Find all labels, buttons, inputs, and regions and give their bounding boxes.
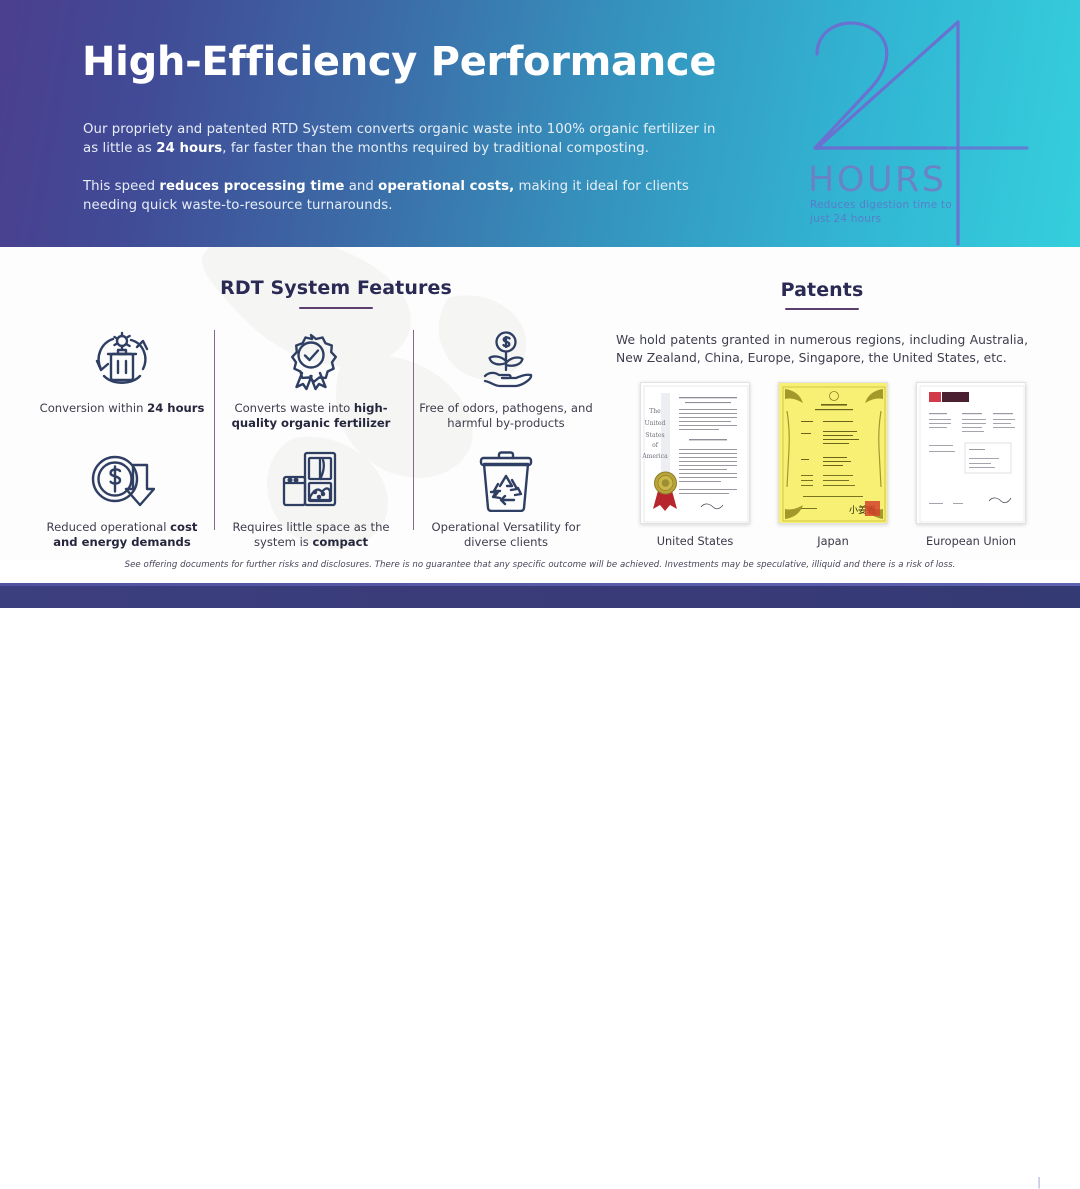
feature-caption: Operational Versatility for diverse clie…	[418, 520, 594, 551]
patent-caption: United States	[640, 535, 750, 548]
quality-badge-check-icon	[223, 325, 399, 393]
hero-paragraph-1: Our propriety and patented RTD System co…	[83, 120, 733, 159]
disclaimer-text: See offering documents for further risks…	[0, 560, 1080, 570]
feature-item-conversion-time: Conversion within 24 hours	[34, 325, 210, 416]
feature-item-quality-fertilizer: Converts waste into high-quality organic…	[223, 325, 399, 432]
feature-item-versatility: Operational Versatility for diverse clie…	[418, 444, 594, 551]
feature-caption-text: Conversion within	[40, 401, 148, 415]
page-number: 13	[1048, 1176, 1062, 1189]
feature-item-reduced-cost: Reduced operational cost and energy dema…	[34, 444, 210, 551]
feature-caption: Reduced operational cost and energy dema…	[34, 520, 210, 551]
patent-image-jp[interactable]: 小姜義	[778, 382, 888, 524]
patent-caption: European Union	[916, 535, 1026, 548]
hero-p2-emphasis-2: operational costs,	[378, 179, 514, 194]
hours-label: HOURS	[808, 160, 947, 200]
hero-paragraph-2: This speed reduces processing time and o…	[83, 177, 733, 216]
feature-caption: Free of odors, pathogens, and harmful by…	[418, 401, 594, 432]
feature-caption-text: Free of odors, pathogens, and harmful by…	[419, 401, 592, 430]
footer-brand-group: SunHo | 13	[988, 1175, 1062, 1189]
patent-document-european-union[interactable]: European Union	[916, 382, 1026, 548]
recycling-trash-icon	[418, 444, 594, 512]
patents-description: We hold patents granted in numerous regi…	[616, 332, 1028, 368]
feature-item-odor-free: Free of odors, pathogens, and harmful by…	[418, 325, 594, 432]
feature-caption-text: Operational Versatility for diverse clie…	[431, 520, 580, 549]
hero-p2-part-a: This speed	[83, 179, 159, 194]
feature-item-compact-system: Requires little space as the system is c…	[223, 444, 399, 551]
feature-caption: Converts waste into high-quality organic…	[223, 401, 399, 432]
hero-banner: High-Efficiency Performance Our propriet…	[0, 0, 1080, 247]
svg-text:of: of	[652, 442, 659, 449]
brand-logo-text: SunHo	[988, 1175, 1030, 1189]
twenty-four-hours-graphic: HOURS Reduces digestion time to just 24 …	[795, 8, 1080, 247]
content-area: RDT System Features	[0, 247, 1080, 560]
feature-caption: Requires little space as the system is c…	[223, 520, 399, 551]
feature-divider-2	[413, 330, 414, 530]
recycle-bin-gear-icon	[34, 325, 210, 393]
hero-p2-emphasis-1: reduces processing time	[159, 179, 344, 194]
feature-caption-emphasis: compact	[313, 535, 368, 549]
patents-title-rule	[785, 308, 859, 310]
hero-p1-part-c: , far faster than the months required by…	[222, 141, 649, 156]
svg-text:States: States	[645, 432, 664, 439]
brand-separator: |	[1037, 1175, 1041, 1189]
patent-documents-row: The United States of America	[640, 382, 1026, 548]
patent-image-eu[interactable]	[916, 382, 1026, 524]
svg-text:United: United	[645, 420, 666, 427]
patent-document-japan[interactable]: 小姜義 Japan	[778, 382, 888, 548]
hand-plant-dollar-icon	[418, 325, 594, 393]
patent-caption: Japan	[778, 535, 888, 548]
hero-p1-emphasis: 24 hours	[156, 141, 222, 156]
patent-image-us[interactable]: The United States of America	[640, 382, 750, 524]
svg-text:The: The	[649, 408, 661, 415]
page-title: High-Efficiency Performance	[82, 40, 716, 84]
dollar-coin-down-arrow-icon	[34, 444, 210, 512]
footer-bar: SunHo | 13	[0, 586, 1080, 608]
feature-caption-emphasis: 24 hours	[147, 401, 204, 415]
features-section-title: RDT System Features	[148, 277, 524, 299]
features-title-rule	[299, 307, 373, 309]
feature-caption: Conversion within 24 hours	[34, 401, 210, 416]
patents-section-title: Patents	[616, 279, 1028, 301]
compact-machine-icon	[223, 444, 399, 512]
patent-document-united-states[interactable]: The United States of America	[640, 382, 750, 548]
feature-divider-1	[214, 330, 215, 530]
hero-p2-part-c: and	[344, 179, 378, 194]
feature-caption-text: Converts waste into	[234, 401, 353, 415]
svg-text:America: America	[641, 453, 668, 460]
feature-caption-text: Reduced operational	[47, 520, 171, 534]
hours-caption: Reduces digestion time to just 24 hours	[810, 198, 970, 226]
